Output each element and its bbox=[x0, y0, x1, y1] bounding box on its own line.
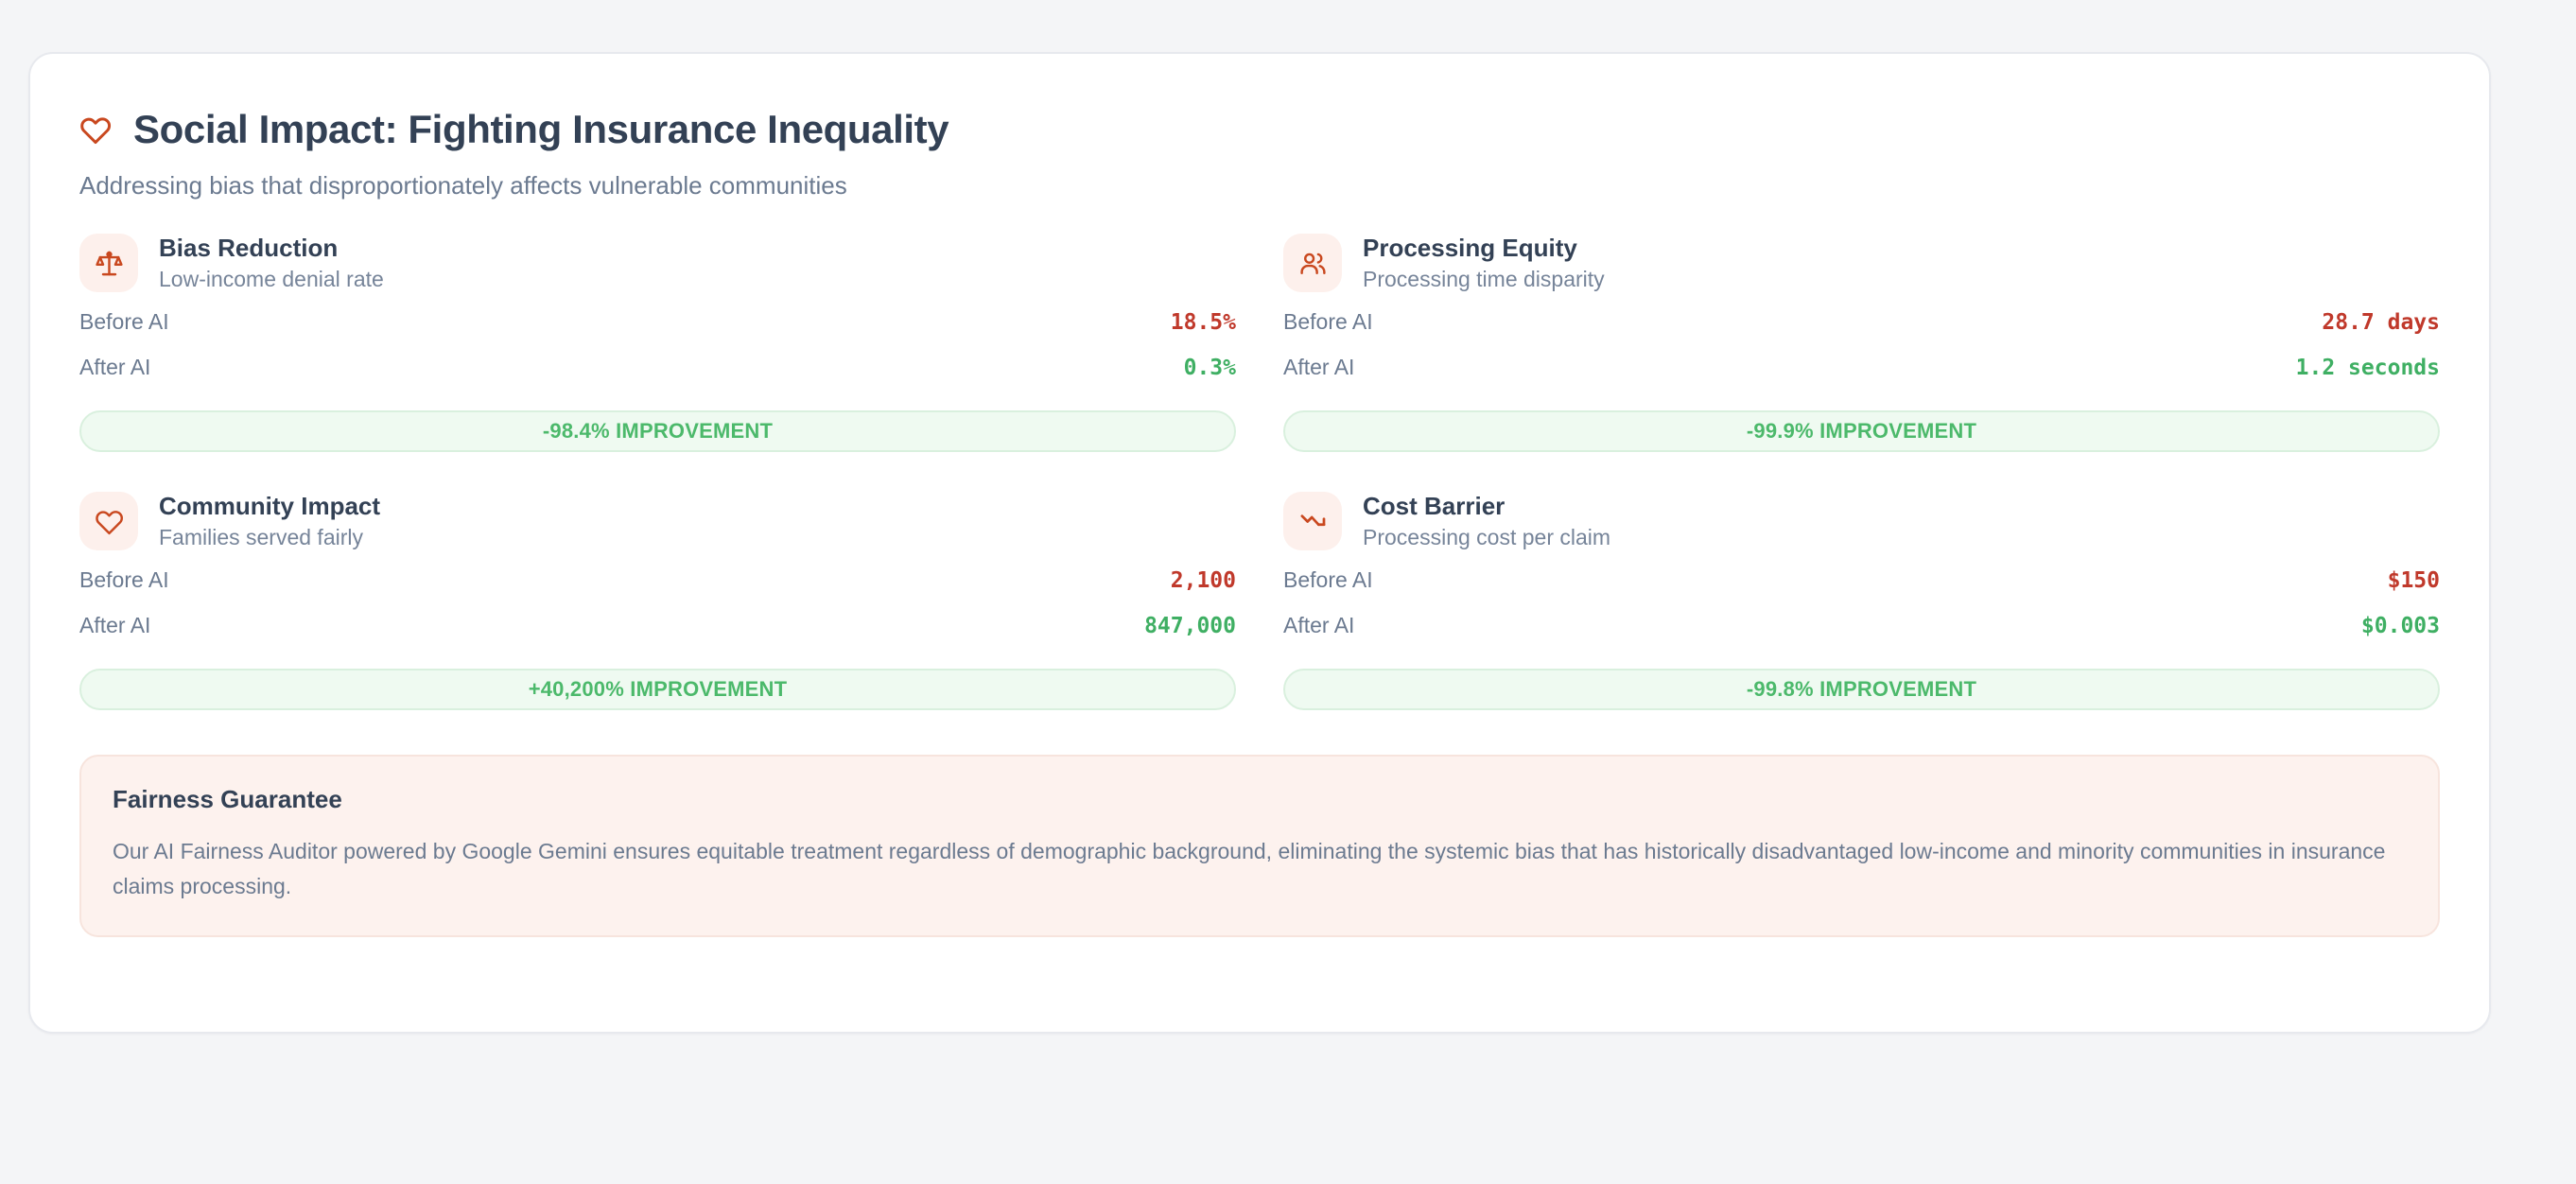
metric-card-cost-barrier: Cost Barrier Processing cost per claim B… bbox=[1283, 492, 2440, 710]
metric-description: Families served fairly bbox=[159, 525, 380, 549]
after-value: 0.3% bbox=[1184, 356, 1236, 380]
metric-header: Cost Barrier Processing cost per claim bbox=[1283, 492, 2440, 550]
heart-outline-icon bbox=[95, 507, 124, 536]
panel-header: Social Impact: Fighting Insurance Inequa… bbox=[79, 101, 2440, 200]
metric-card-bias-reduction: Bias Reduction Low-income denial rate Be… bbox=[79, 234, 1236, 452]
before-value: 18.5% bbox=[1171, 310, 1236, 335]
after-value: 1.2 seconds bbox=[2296, 356, 2440, 380]
metric-grid: Bias Reduction Low-income denial rate Be… bbox=[79, 234, 2440, 710]
metric-row-after: After AI 1.2 seconds bbox=[1283, 355, 2440, 400]
improvement-badge: -99.8% IMPROVEMENT bbox=[1283, 669, 2440, 710]
improvement-badge: +40,200% IMPROVEMENT bbox=[79, 669, 1236, 710]
after-value: $0.003 bbox=[2361, 614, 2440, 638]
metric-card-processing-equity: Processing Equity Processing time dispar… bbox=[1283, 234, 2440, 452]
after-label: After AI bbox=[1283, 355, 1354, 380]
before-value: $150 bbox=[2388, 568, 2440, 593]
fairness-guarantee-body: Our AI Fairness Auditor powered by Googl… bbox=[113, 834, 2401, 903]
after-label: After AI bbox=[79, 355, 150, 380]
page-root: Social Impact: Fighting Insurance Inequa… bbox=[0, 0, 2576, 1184]
heart-outline-icon bbox=[79, 113, 112, 146]
after-label: After AI bbox=[1283, 613, 1354, 638]
page-title: Social Impact: Fighting Insurance Inequa… bbox=[133, 110, 949, 149]
metric-name: Cost Barrier bbox=[1363, 493, 1610, 521]
before-value: 2,100 bbox=[1171, 568, 1236, 593]
metric-name: Bias Reduction bbox=[159, 235, 384, 263]
before-value: 28.7 days bbox=[2322, 310, 2440, 335]
metric-header: Community Impact Families served fairly bbox=[79, 492, 1236, 550]
social-impact-panel: Social Impact: Fighting Insurance Inequa… bbox=[28, 52, 2491, 1034]
after-value: 847,000 bbox=[1144, 614, 1236, 638]
metric-name: Community Impact bbox=[159, 493, 380, 521]
before-label: Before AI bbox=[1283, 309, 1373, 335]
metric-row-before: Before AI 2,100 bbox=[79, 567, 1236, 613]
improvement-badge: -98.4% IMPROVEMENT bbox=[79, 410, 1236, 452]
metric-row-after: After AI $0.003 bbox=[1283, 613, 2440, 658]
metric-description: Processing cost per claim bbox=[1363, 525, 1610, 549]
scales-balance-icon bbox=[95, 249, 124, 278]
fairness-guarantee-panel: Fairness Guarantee Our AI Fairness Audit… bbox=[79, 755, 2440, 937]
before-label: Before AI bbox=[79, 567, 169, 593]
after-label: After AI bbox=[79, 613, 150, 638]
users-icon bbox=[1298, 249, 1328, 278]
metric-header: Bias Reduction Low-income denial rate bbox=[79, 234, 1236, 292]
metric-row-after: After AI 0.3% bbox=[79, 355, 1236, 400]
fairness-guarantee-title: Fairness Guarantee bbox=[113, 785, 2407, 814]
metric-description: Processing time disparity bbox=[1363, 267, 1605, 291]
scales-balance-icon-tile bbox=[79, 234, 138, 292]
users-icon-tile bbox=[1283, 234, 1342, 292]
metric-row-before: Before AI $150 bbox=[1283, 567, 2440, 613]
metric-description: Low-income denial rate bbox=[159, 267, 384, 291]
improvement-badge: -99.9% IMPROVEMENT bbox=[1283, 410, 2440, 452]
metric-card-community-impact: Community Impact Families served fairly … bbox=[79, 492, 1236, 710]
before-label: Before AI bbox=[79, 309, 169, 335]
metric-header: Processing Equity Processing time dispar… bbox=[1283, 234, 2440, 292]
before-label: Before AI bbox=[1283, 567, 1373, 593]
trending-down-icon bbox=[1298, 507, 1328, 536]
panel-title-row: Social Impact: Fighting Insurance Inequa… bbox=[79, 101, 2440, 158]
metric-row-after: After AI 847,000 bbox=[79, 613, 1236, 658]
trending-down-icon-tile bbox=[1283, 492, 1342, 550]
metric-row-before: Before AI 28.7 days bbox=[1283, 309, 2440, 355]
panel-subtitle: Addressing bias that disproportionately … bbox=[79, 171, 2440, 200]
metric-row-before: Before AI 18.5% bbox=[79, 309, 1236, 355]
heart-outline-icon-tile bbox=[79, 492, 138, 550]
metric-name: Processing Equity bbox=[1363, 235, 1605, 263]
